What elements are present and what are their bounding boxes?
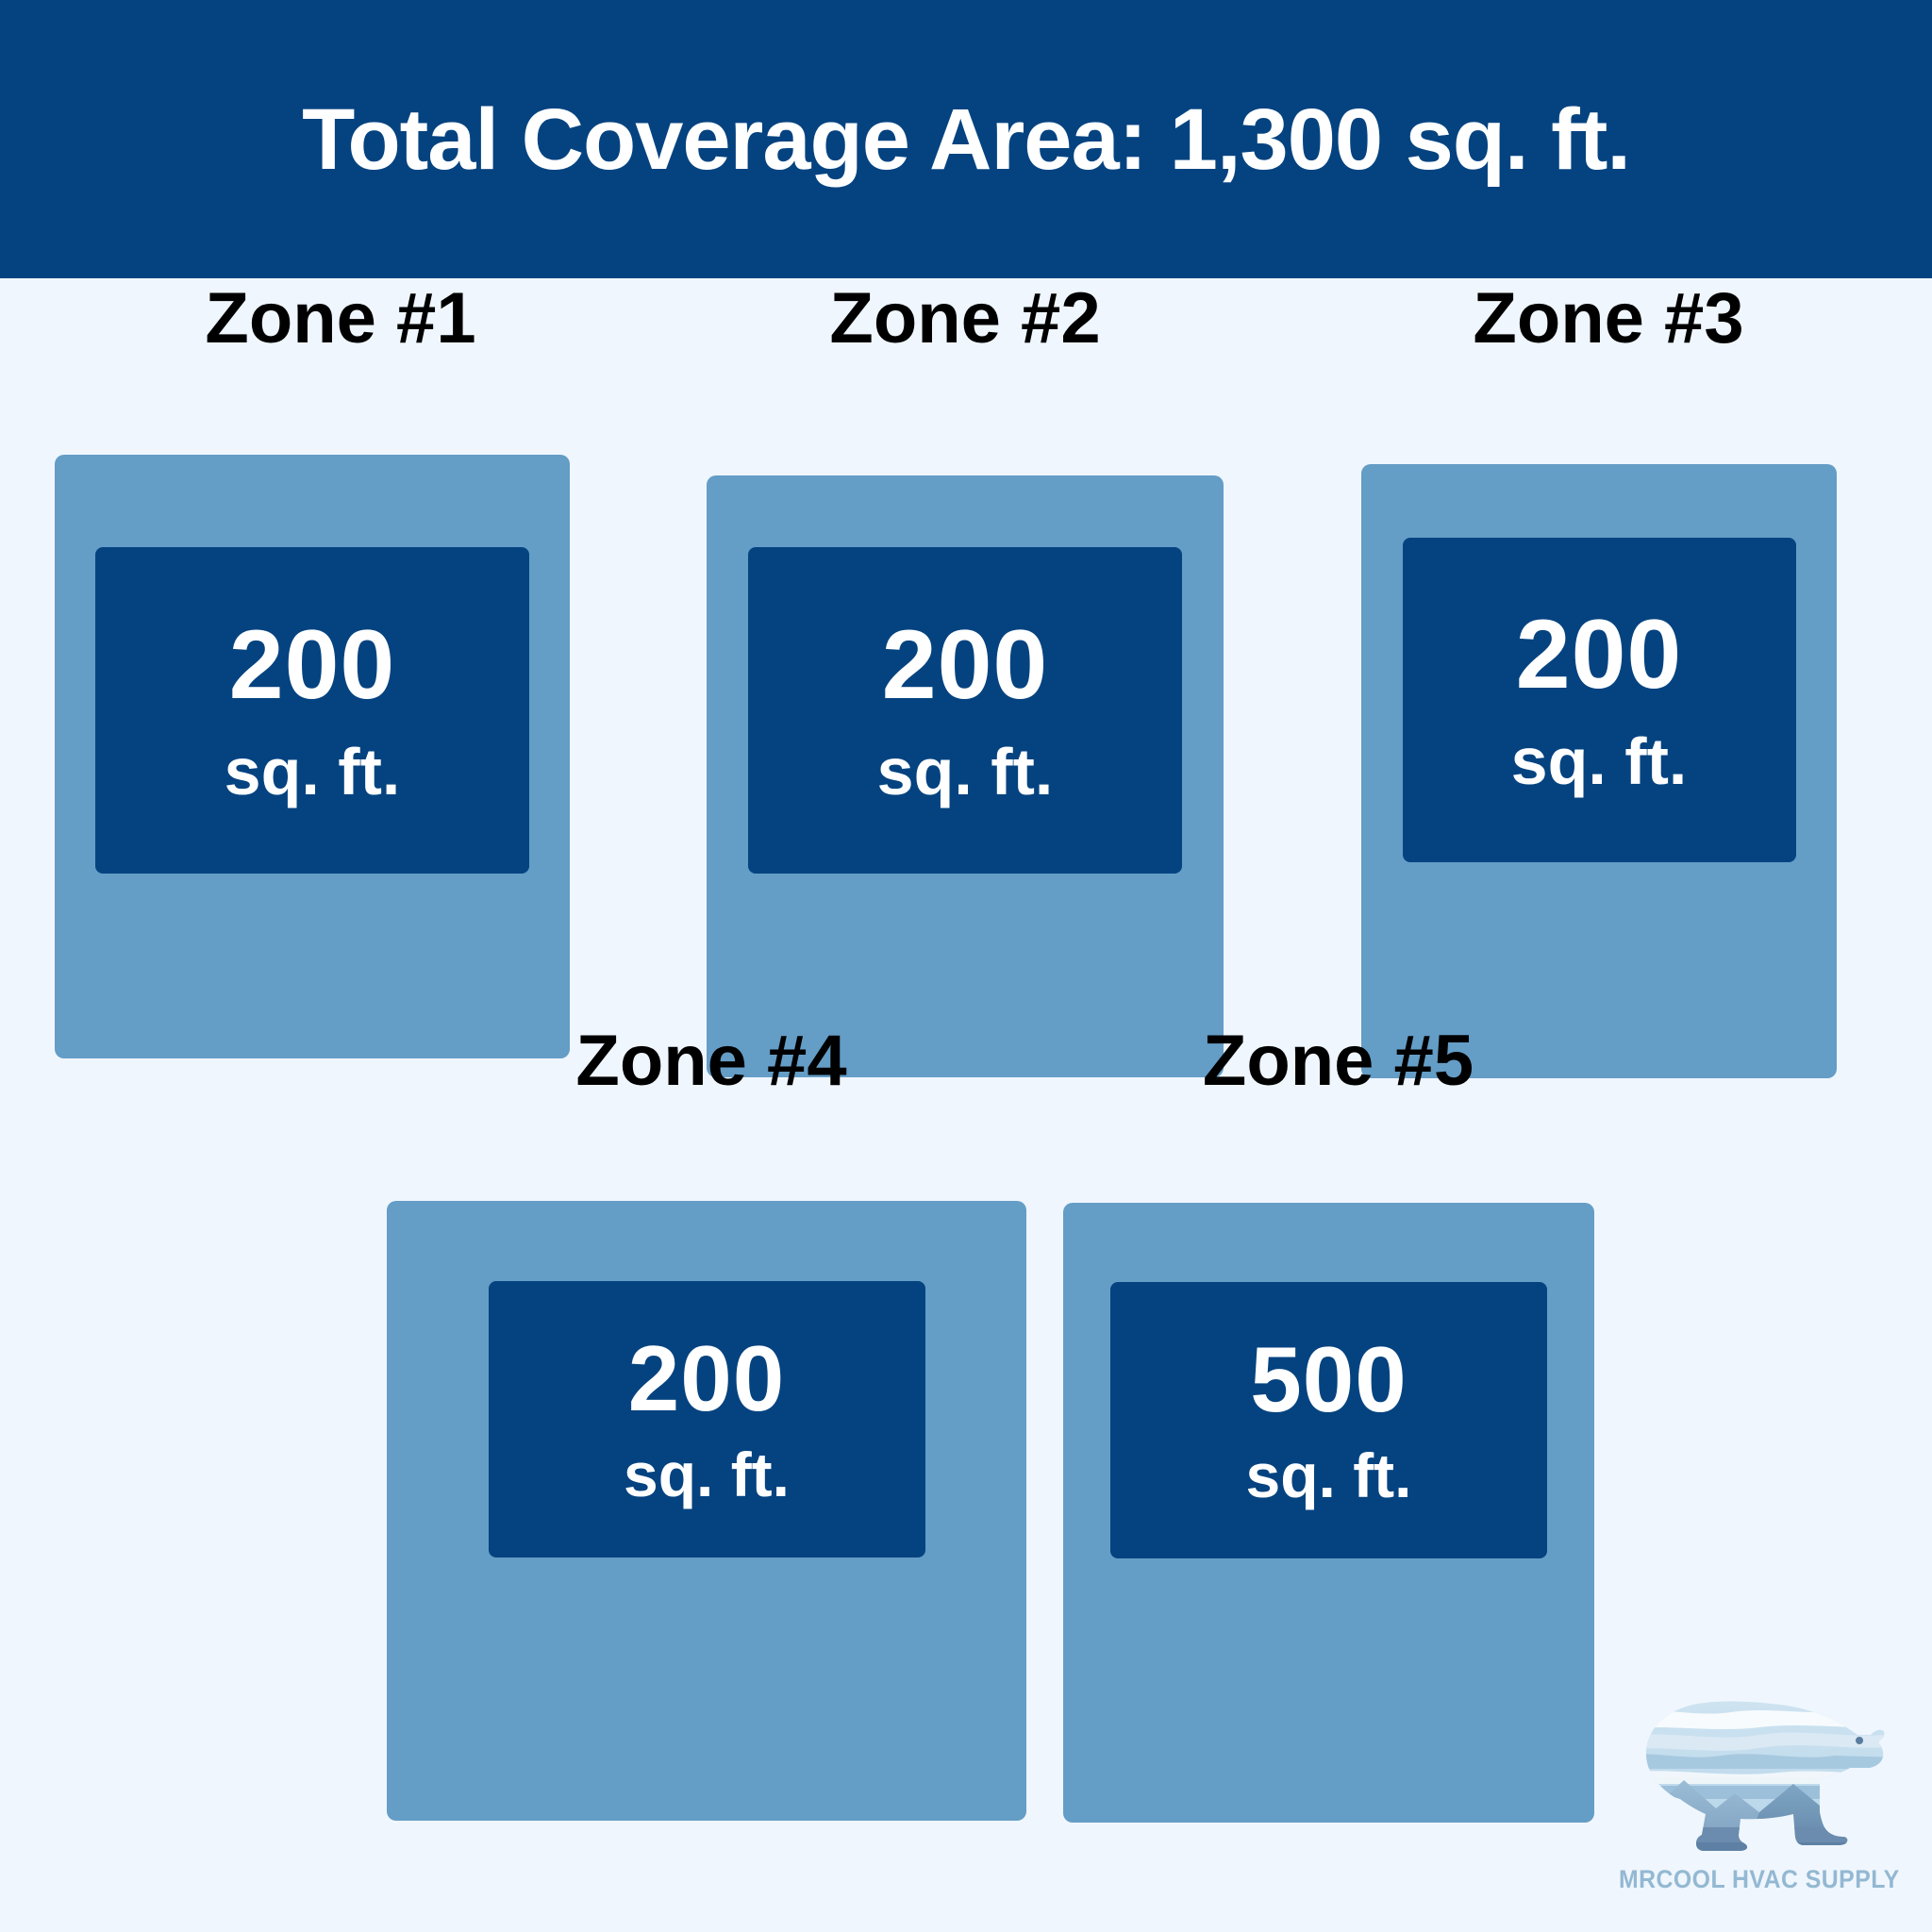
zone-inner-box-2: 200 sq. ft.	[748, 547, 1182, 874]
zone-unit-2: sq. ft.	[877, 738, 1054, 808]
zone-outer-box-2: 200 sq. ft.	[707, 475, 1224, 1077]
zone-label-2: Zone #2	[829, 283, 1100, 355]
logo-wordmark: MRCOOL HVAC SUPPLY	[1619, 1865, 1900, 1894]
zone-label-1: Zone #1	[205, 283, 475, 355]
brand-logo: MRCOOL HVAC SUPPLY	[1604, 1693, 1915, 1924]
zone-outer-box-1: 200 sq. ft.	[55, 455, 570, 1058]
zone-label-5: Zone #5	[1203, 1025, 1474, 1097]
zone-card-3[interactable]: Zone #3 200 sq. ft.	[1361, 283, 1837, 1078]
zone-unit-4: sq. ft.	[624, 1442, 790, 1507]
zone-unit-5: sq. ft.	[1246, 1443, 1412, 1508]
zone-card-4[interactable]: Zone #4 200 sq. ft.	[387, 1025, 1026, 1821]
zone-inner-box-1: 200 sq. ft.	[95, 547, 529, 874]
zone-card-2[interactable]: Zone #2 200 sq. ft.	[707, 283, 1224, 1077]
zone-inner-box-5: 500 sq. ft.	[1110, 1282, 1547, 1558]
zone-inner-box-3: 200 sq. ft.	[1403, 538, 1796, 862]
zone-value-2: 200	[882, 614, 1049, 717]
header-banner: Total Coverage Area: 1,300 sq. ft.	[0, 0, 1932, 278]
zone-outer-box-4: 200 sq. ft.	[387, 1201, 1026, 1821]
zone-label-4: Zone #4	[575, 1025, 846, 1097]
zone-value-5: 500	[1250, 1331, 1407, 1428]
zone-unit-1: sq. ft.	[225, 738, 401, 808]
zone-inner-box-4: 200 sq. ft.	[489, 1281, 925, 1557]
zone-value-3: 200	[1516, 604, 1683, 707]
zone-value-4: 200	[628, 1330, 786, 1427]
page-title: Total Coverage Area: 1,300 sq. ft.	[302, 96, 1630, 183]
zone-label-3: Zone #3	[1473, 283, 1743, 355]
zone-unit-3: sq. ft.	[1511, 727, 1688, 797]
zone-outer-box-5: 500 sq. ft.	[1063, 1203, 1594, 1823]
zone-value-1: 200	[229, 614, 396, 717]
zone-outer-box-3: 200 sq. ft.	[1361, 464, 1837, 1078]
polar-bear-icon	[1618, 1693, 1901, 1861]
zone-card-5[interactable]: Zone #5 500 sq. ft.	[1063, 1025, 1594, 1823]
zone-grid: Zone #1 200 sq. ft. Zone #2 200 sq. ft. …	[0, 278, 1932, 1932]
zone-card-1[interactable]: Zone #1 200 sq. ft.	[55, 283, 570, 1058]
